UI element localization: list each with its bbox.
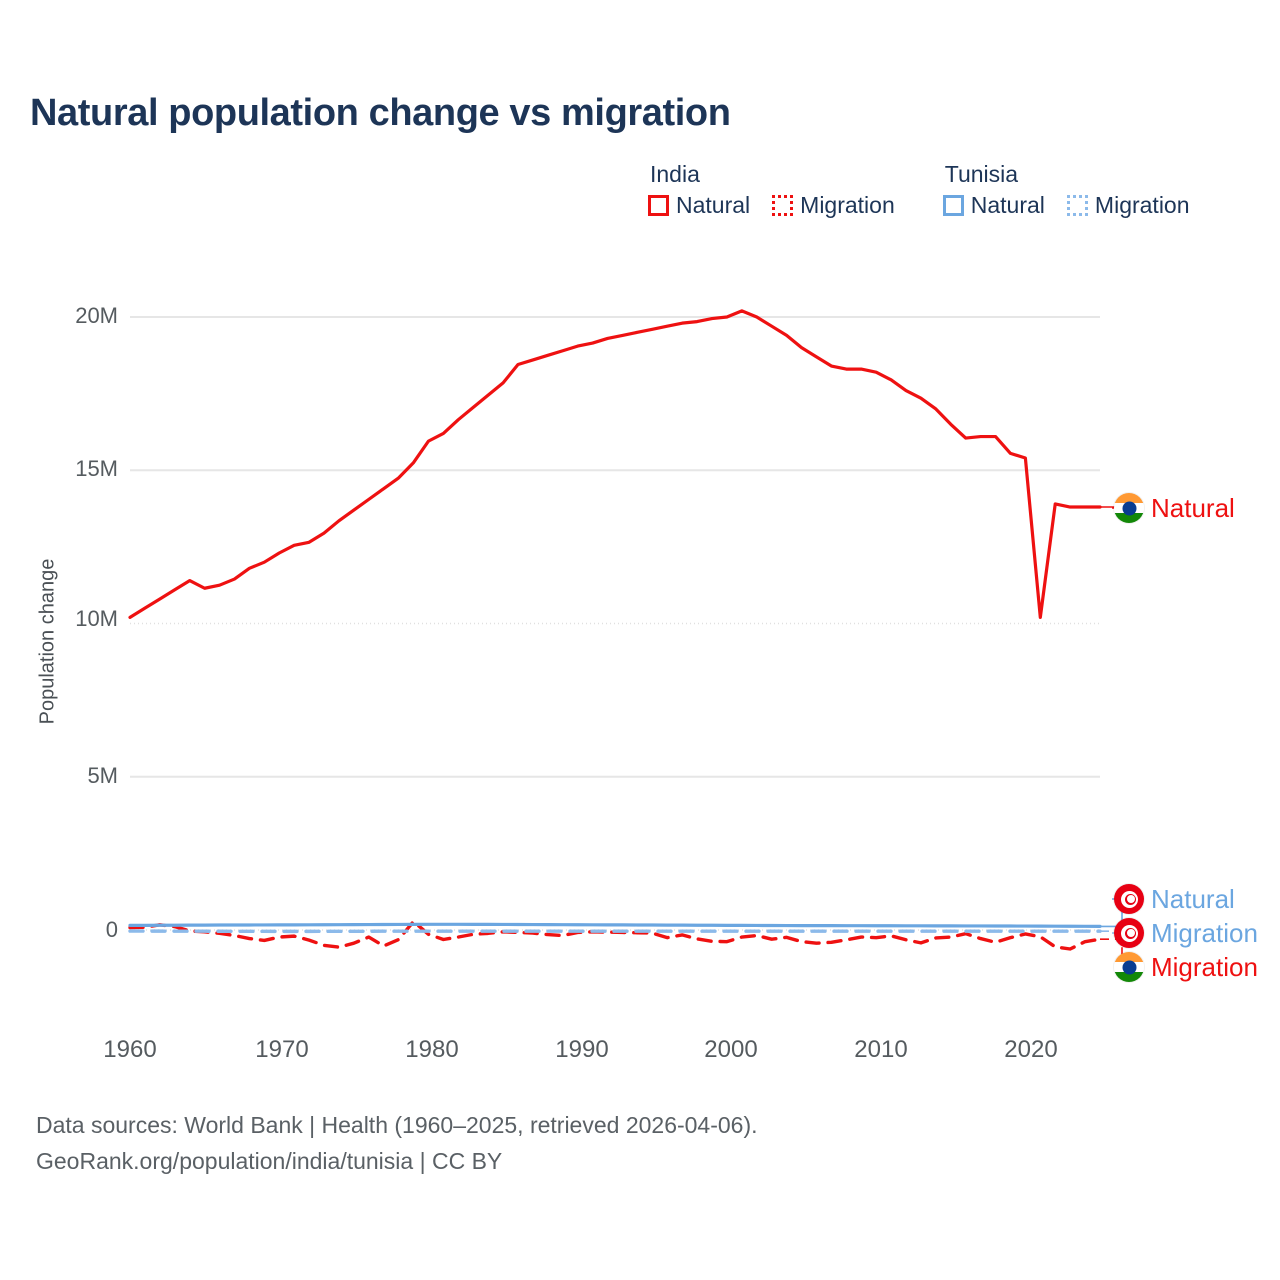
y-tick-label-10M: 10M xyxy=(0,606,118,632)
x-tick-label-2000: 2000 xyxy=(704,1036,757,1064)
x-tick-label-1990: 1990 xyxy=(555,1036,608,1064)
gridlines xyxy=(130,317,1100,930)
end-label-tunisia-natural[interactable]: Natural xyxy=(1114,884,1235,914)
tunisia-flag-icon xyxy=(1114,884,1144,914)
series-line-tunisia-natural xyxy=(130,924,1100,926)
y-tick-label-0: 0 xyxy=(0,917,118,943)
end-label-tunisia-migration[interactable]: Migration xyxy=(1114,918,1258,948)
x-tick-label-1980: 1980 xyxy=(405,1036,458,1064)
footer-line-2: GeoRank.org/population/india/tunisia | C… xyxy=(36,1144,758,1180)
end-label-text: Natural xyxy=(1151,886,1235,912)
end-label-text: Migration xyxy=(1151,920,1258,946)
end-label-india-migration[interactable]: Migration xyxy=(1114,952,1258,982)
chart-svg xyxy=(0,0,1280,1280)
y-tick-label-15M: 15M xyxy=(0,456,118,482)
x-tick-label-2020: 2020 xyxy=(1004,1036,1057,1064)
series-line-india-natural xyxy=(130,311,1100,618)
end-label-india-natural[interactable]: Natural xyxy=(1114,493,1235,523)
footer-sources: Data sources: World Bank | Health (1960–… xyxy=(36,1108,758,1179)
footer-line-1: Data sources: World Bank | Health (1960–… xyxy=(36,1108,758,1144)
y-tick-label-20M: 20M xyxy=(0,303,118,329)
plot-area: Population change 20M 15M 10M 5M 0 1960 … xyxy=(0,0,1280,1280)
x-tick-label-2010: 2010 xyxy=(854,1036,907,1064)
x-tick-label-1960: 1960 xyxy=(103,1036,156,1064)
india-flag-icon xyxy=(1114,952,1144,982)
end-label-text: Natural xyxy=(1151,495,1235,521)
y-axis-title: Population change xyxy=(37,532,60,752)
chart-page: Natural population change vs migration I… xyxy=(0,0,1280,1280)
end-label-text: Migration xyxy=(1151,954,1258,980)
y-tick-label-5M: 5M xyxy=(0,763,118,789)
x-tick-label-1970: 1970 xyxy=(255,1036,308,1064)
india-flag-icon xyxy=(1114,493,1144,523)
tunisia-flag-icon xyxy=(1114,918,1144,948)
series-lines xyxy=(130,311,1100,949)
